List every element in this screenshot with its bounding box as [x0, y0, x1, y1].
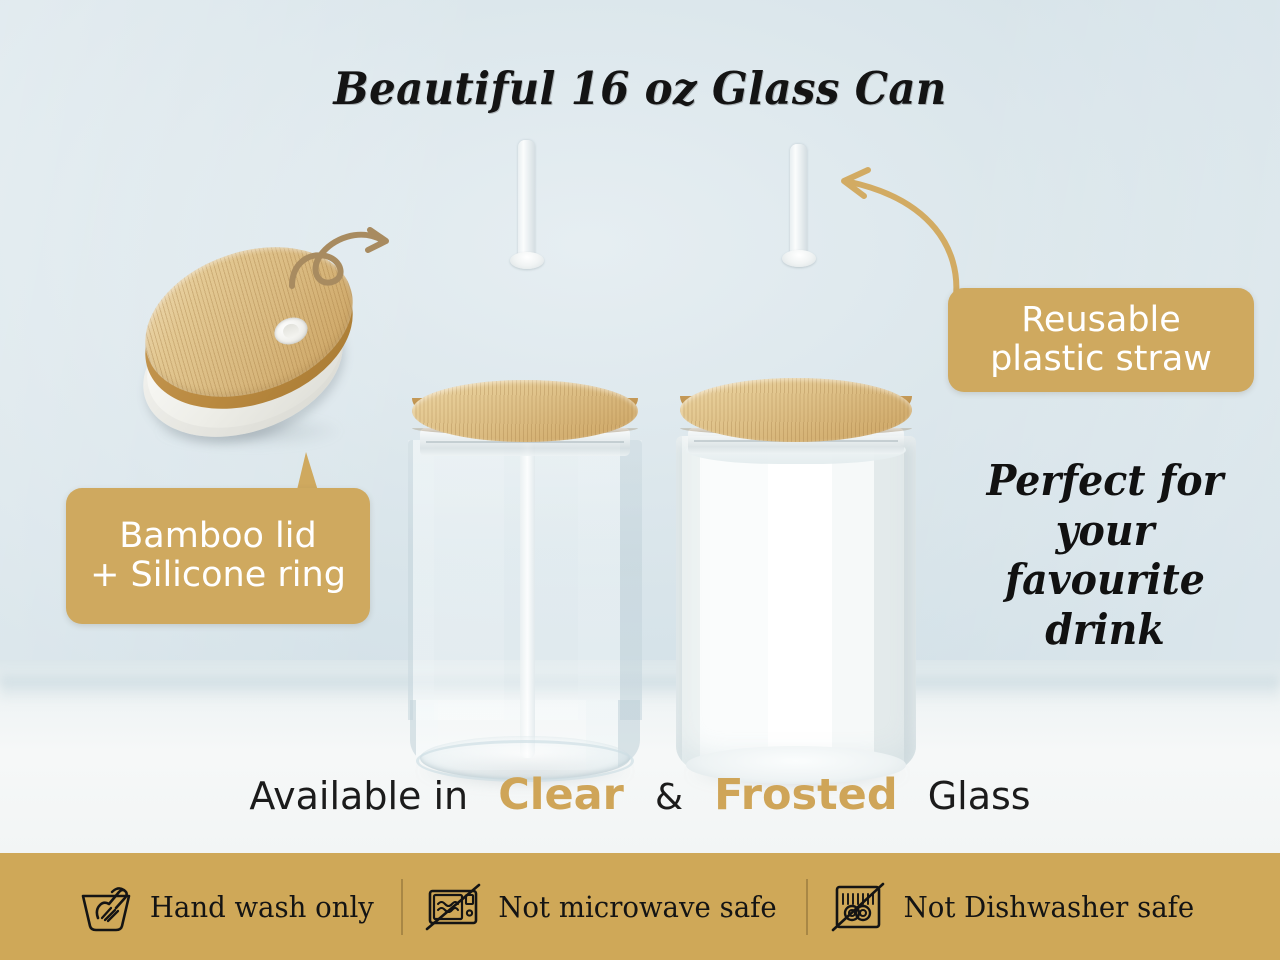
- clear-can-straw-collar: [510, 252, 544, 269]
- care-divider-1: [401, 879, 403, 935]
- care-label-hand-wash: Hand wash only: [150, 890, 374, 924]
- care-label-no-dishwasher: Not Dishwasher safe: [904, 890, 1194, 924]
- no-dishwasher-icon: [830, 880, 886, 934]
- frosted-can-straw: [790, 144, 807, 266]
- callout-straw-line1: Reusable: [1021, 301, 1181, 340]
- tagline-perfect-for: Perfect for your favourite drink: [950, 456, 1260, 654]
- callout-lid-line2: + Silicone ring: [90, 556, 346, 595]
- frosted-can-straw-collar: [782, 250, 816, 267]
- no-microwave-icon: [425, 880, 481, 934]
- care-instructions-bar: Hand wash only Not microwave safe: [0, 853, 1280, 960]
- callout-reusable-straw: Reusable plastic straw: [948, 288, 1254, 392]
- care-item-no-microwave: Not microwave safe: [409, 880, 800, 934]
- tagline-line3: drink: [950, 605, 1260, 655]
- care-item-hand-wash: Hand wash only: [62, 880, 396, 934]
- care-item-no-dishwasher: Not Dishwasher safe: [814, 880, 1218, 934]
- available-prefix: Available in: [240, 774, 477, 818]
- available-option-frosted: Frosted: [705, 770, 906, 820]
- callout-straw-line2: plastic straw: [990, 340, 1212, 379]
- available-option-clear: Clear: [489, 770, 633, 820]
- clear-can-bamboo-lid: [412, 380, 638, 442]
- hand-wash-icon: [78, 880, 134, 934]
- page-title: Beautiful 16 oz Glass Can: [45, 62, 1235, 115]
- tagline-line2: your favourite: [950, 506, 1260, 605]
- available-suffix: Glass: [919, 774, 1040, 818]
- clear-glass-can: [398, 140, 656, 740]
- frosted-can-bamboo-lid: [680, 378, 912, 442]
- care-divider-2: [806, 879, 808, 935]
- tagline-line1: Perfect for: [950, 456, 1260, 506]
- available-finishes-line: Available in Clear & Frosted Glass: [0, 770, 1280, 820]
- callout-bamboo-lid: Bamboo lid + Silicone ring: [66, 488, 370, 624]
- clear-can-straw: [518, 140, 535, 265]
- infographic-canvas: Beautiful 16 oz Glass Can: [0, 0, 1280, 960]
- clear-can-inner-straw: [520, 440, 535, 758]
- available-conjunction: &: [645, 777, 693, 818]
- frosted-can-body: [676, 436, 916, 776]
- curly-arrow-to-lid: [286, 212, 406, 288]
- care-label-no-microwave: Not microwave safe: [499, 890, 777, 924]
- curved-arrow-to-straw: [828, 164, 968, 300]
- callout-lid-line1: Bamboo lid: [119, 517, 316, 556]
